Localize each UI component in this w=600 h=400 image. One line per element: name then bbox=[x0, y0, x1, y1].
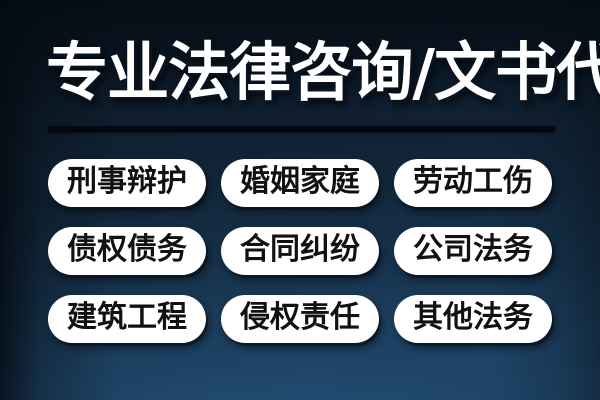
poster-canvas: 专业法律咨询/文书代写 刑事辩护 婚姻家庭 劳动工伤 债权债务 合同纠纷 公司法… bbox=[0, 0, 600, 400]
service-pill-label: 刑事辩护 bbox=[67, 167, 187, 197]
service-pill-label: 债权债务 bbox=[67, 235, 187, 265]
service-pill-label: 劳动工伤 bbox=[413, 167, 533, 197]
service-pill-corporate-legal[interactable]: 公司法务 bbox=[394, 227, 552, 275]
service-pill-label: 合同纠纷 bbox=[240, 235, 360, 265]
service-pill-tort-liability[interactable]: 侵权责任 bbox=[221, 295, 379, 343]
service-pill-criminal-defense[interactable]: 刑事辩护 bbox=[48, 159, 206, 207]
service-pill-debt-credit[interactable]: 债权债务 bbox=[48, 227, 206, 275]
service-pill-label: 侵权责任 bbox=[240, 303, 360, 333]
service-pill-label: 公司法务 bbox=[413, 235, 533, 265]
service-pill-marriage-family[interactable]: 婚姻家庭 bbox=[221, 159, 379, 207]
service-pill-label: 建筑工程 bbox=[67, 303, 187, 333]
service-pill-labor-injury[interactable]: 劳动工伤 bbox=[394, 159, 552, 207]
page-title: 专业法律咨询/文书代写 bbox=[46, 33, 550, 113]
title-divider-rule bbox=[48, 126, 555, 132]
service-pill-label: 其他法务 bbox=[413, 303, 533, 333]
service-pill-grid: 刑事辩护 婚姻家庭 劳动工伤 债权债务 合同纠纷 公司法务 建筑工程 侵权责任 bbox=[48, 159, 552, 343]
service-pill-construction-engineering[interactable]: 建筑工程 bbox=[48, 295, 206, 343]
poster-content: 专业法律咨询/文书代写 刑事辩护 婚姻家庭 劳动工伤 债权债务 合同纠纷 公司法… bbox=[0, 0, 600, 400]
service-pill-contract-dispute[interactable]: 合同纠纷 bbox=[221, 227, 379, 275]
service-pill-other-legal[interactable]: 其他法务 bbox=[394, 295, 552, 343]
service-pill-label: 婚姻家庭 bbox=[240, 167, 360, 197]
